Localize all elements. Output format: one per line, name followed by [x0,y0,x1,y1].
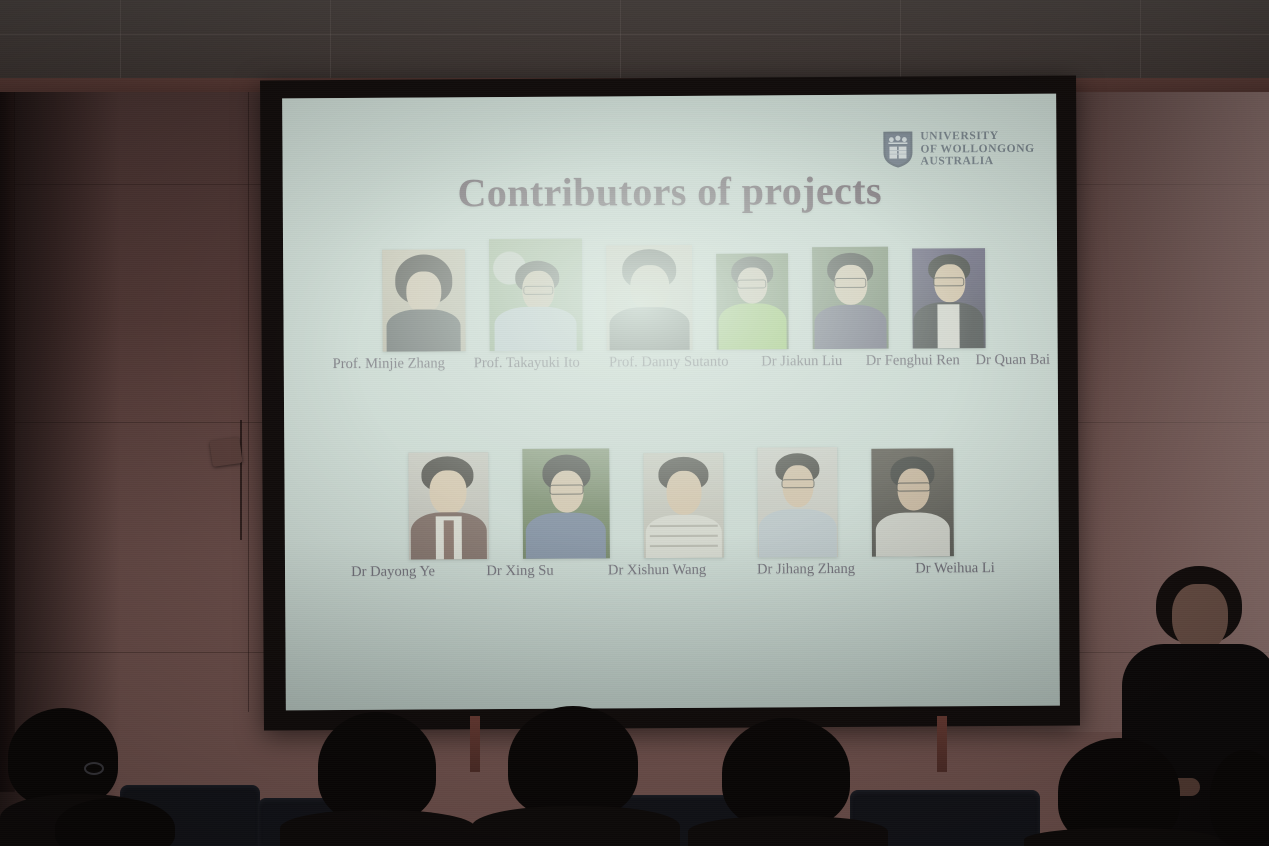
wall-cable [240,420,242,540]
contributor-name: Dr Xishun Wang [581,562,733,580]
portrait-photo [488,239,582,352]
portrait-photo [408,452,489,559]
portrait-photo [912,248,986,348]
contributor-fenghui-ren [812,247,889,349]
university-logo-text: UNIVERSITY OF WOLLONGONG AUSTRALIA [920,130,1034,168]
audience-head [722,718,850,828]
portrait-photo [606,245,693,351]
contributor-weihua-li [871,448,954,556]
contributor-name: Prof. Danny Sutanto [589,354,749,372]
projector-screen: UNIVERSITY OF WOLLONGONG AUSTRALIA Contr… [260,76,1080,731]
portrait-photo [812,247,889,349]
contributor-xing-su [522,448,610,559]
contributor-name: Dr Jihang Zhang [730,561,882,579]
projected-slide: UNIVERSITY OF WOLLONGONG AUSTRALIA Contr… [282,94,1060,711]
audience-shoulders [280,810,476,846]
contributor-name: Dr Dayong Ye [325,563,461,581]
contributor-name: Dr Jiakun Liu [744,353,860,371]
audience-head [8,708,118,806]
portrait-photo [522,448,610,559]
contributors-row-1-names: Prof. Minjie Zhang Prof. Takayuki Ito Pr… [284,352,1058,379]
contributor-name: Dr Weihua Li [885,560,1025,578]
logo-line-2: OF WOLLONGONG [920,143,1034,156]
audience-glasses [84,762,104,775]
contributor-name: Dr Quan Bai [963,352,1060,370]
audience-head [318,712,436,822]
university-crest-icon [882,131,913,169]
slide-title: Contributors of projects [283,166,1057,218]
portrait-photo [757,447,838,557]
contributor-xishun-wang [643,453,724,558]
portrait-photo [871,448,954,556]
portrait-photo [382,249,466,352]
audience-shoulders [472,806,680,846]
contributor-name: Dr Xing Su [455,563,585,581]
contributor-name: Prof. Takayuki Ito [452,354,602,372]
audience-shoulders [1024,828,1220,846]
contributor-jihang-zhang [757,447,838,557]
logo-line-1: UNIVERSITY [920,130,1034,143]
contributor-quan-bai [912,248,986,348]
slide-content: UNIVERSITY OF WOLLONGONG AUSTRALIA Contr… [282,94,1060,711]
portrait-photo [716,253,789,349]
wall-fixture [209,437,242,467]
presenter-face [1172,584,1228,652]
audience-head [508,706,638,818]
contributor-minjie-zhang [382,249,466,352]
university-logo: UNIVERSITY OF WOLLONGONG AUSTRALIA [882,130,1034,169]
portrait-photo [643,453,724,558]
audience [0,690,1269,846]
contributor-takayuki-ito [488,239,582,352]
contributor-name: Prof. Minjie Zhang [314,355,464,373]
contributor-name: Dr Fenghui Ren [849,352,977,370]
contributors-row-2-names: Dr Dayong Ye Dr Xing Su Dr Xishun Wang D… [285,560,1059,587]
contributor-danny-sutanto [606,245,693,351]
contributors-row-2 [284,446,1059,561]
contributor-jiakun-liu [716,253,789,349]
audience-head [1210,750,1269,846]
contributor-dayong-ye [408,452,489,559]
audience-shoulders [688,816,888,846]
lecture-room-scene: UNIVERSITY OF WOLLONGONG AUSTRALIA Contr… [0,0,1269,846]
contributors-row-1 [283,236,1058,353]
